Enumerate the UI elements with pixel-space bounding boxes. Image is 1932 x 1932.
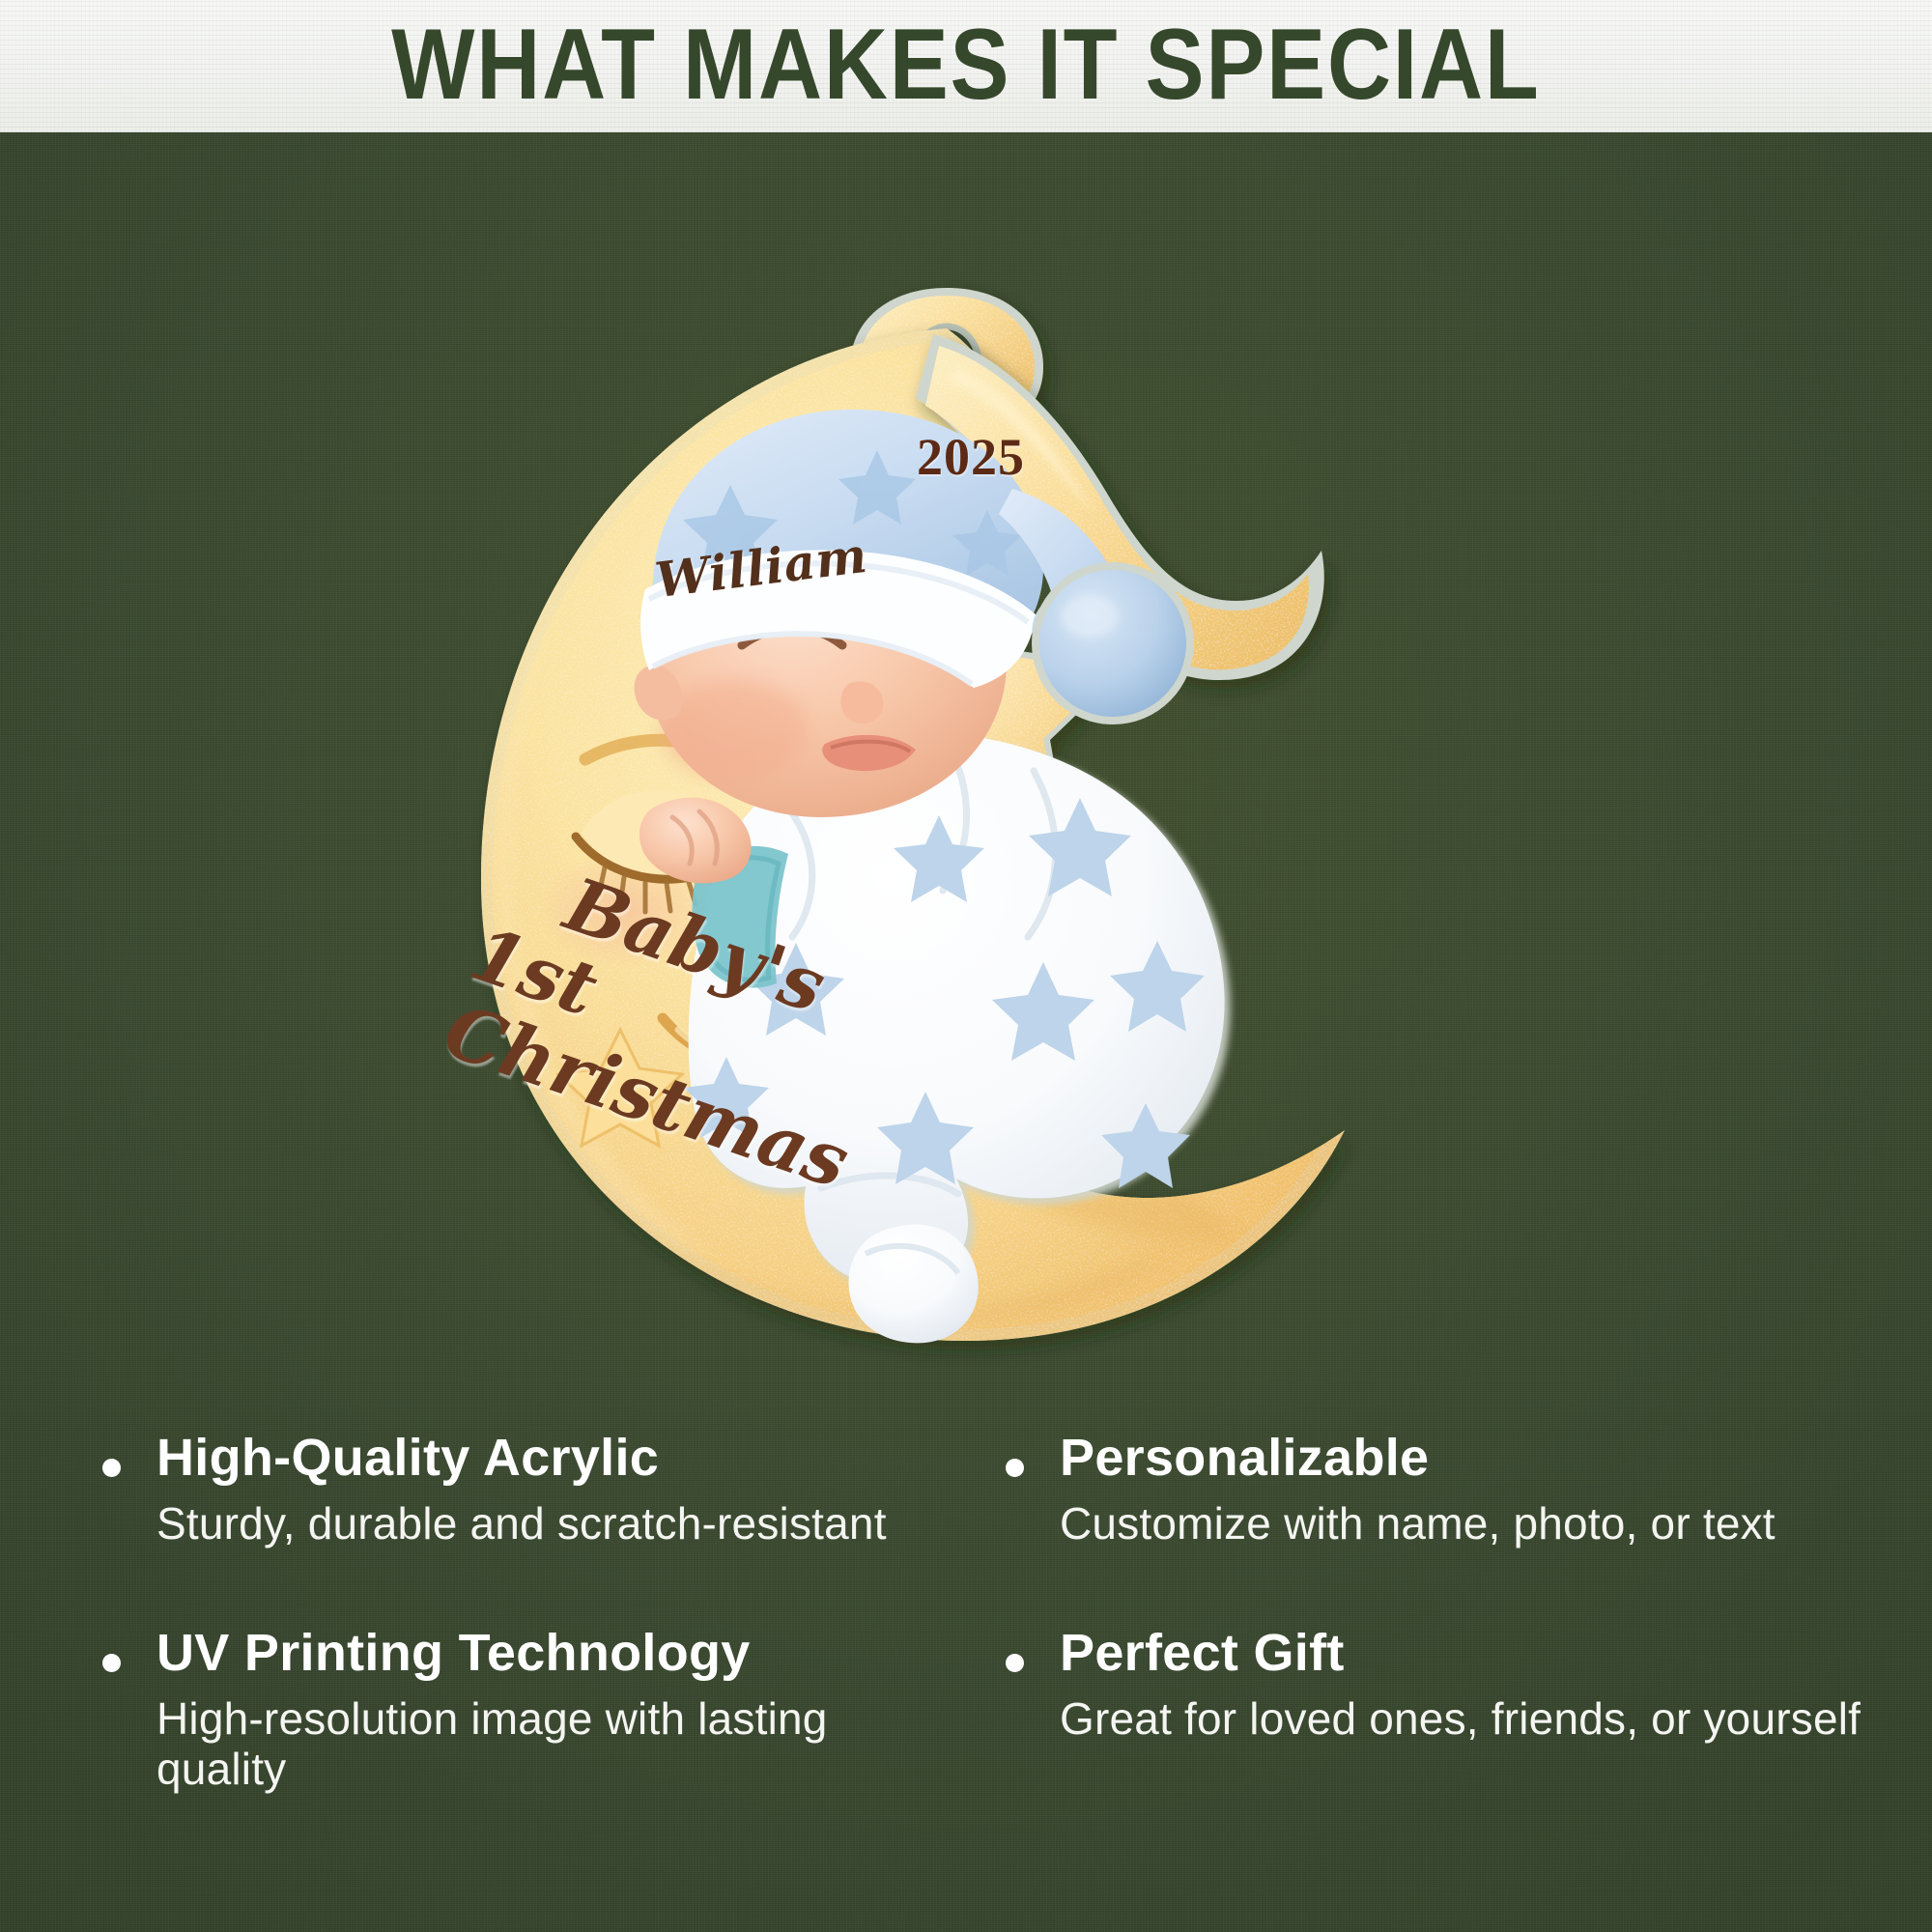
product-image-ornament: 2025 William Baby's 1st Christmas	[367, 261, 1565, 1381]
feature-title: Perfect Gift	[1060, 1625, 1864, 1681]
feature-title: High-Quality Acrylic	[156, 1430, 961, 1486]
feature-title: UV Printing Technology	[156, 1625, 961, 1681]
bullet-icon	[102, 1459, 121, 1477]
bullet-icon	[1006, 1654, 1024, 1672]
feature-title: Personalizable	[1060, 1430, 1864, 1486]
page-title: WHAT MAKES IT SPECIAL	[391, 14, 1540, 115]
feature-description: Customize with name, photo, or text	[1060, 1499, 1864, 1549]
feature-item-perfect-gift: Perfect Gift Great for loved ones, frien…	[1000, 1625, 1864, 1794]
bullet-icon	[1006, 1459, 1024, 1477]
marketing-infographic: WHAT MAKES IT SPECIAL	[0, 0, 1932, 1932]
feature-item-high-quality-acrylic: High-Quality Acrylic Sturdy, durable and…	[97, 1430, 961, 1549]
feature-description: High-resolution image with lasting quali…	[156, 1694, 961, 1794]
feature-description: Great for loved ones, friends, or yourse…	[1060, 1694, 1864, 1745]
baby-foot	[849, 1225, 979, 1344]
bullet-icon	[102, 1654, 121, 1672]
feature-description: Sturdy, durable and scratch-resistant	[156, 1499, 961, 1549]
feature-list: High-Quality Acrylic Sturdy, durable and…	[97, 1430, 1864, 1794]
feature-item-uv-printing-technology: UV Printing Technology High-resolution i…	[97, 1625, 961, 1794]
feature-item-personalizable: Personalizable Customize with name, phot…	[1000, 1430, 1864, 1549]
header-band: WHAT MAKES IT SPECIAL	[0, 0, 1932, 132]
